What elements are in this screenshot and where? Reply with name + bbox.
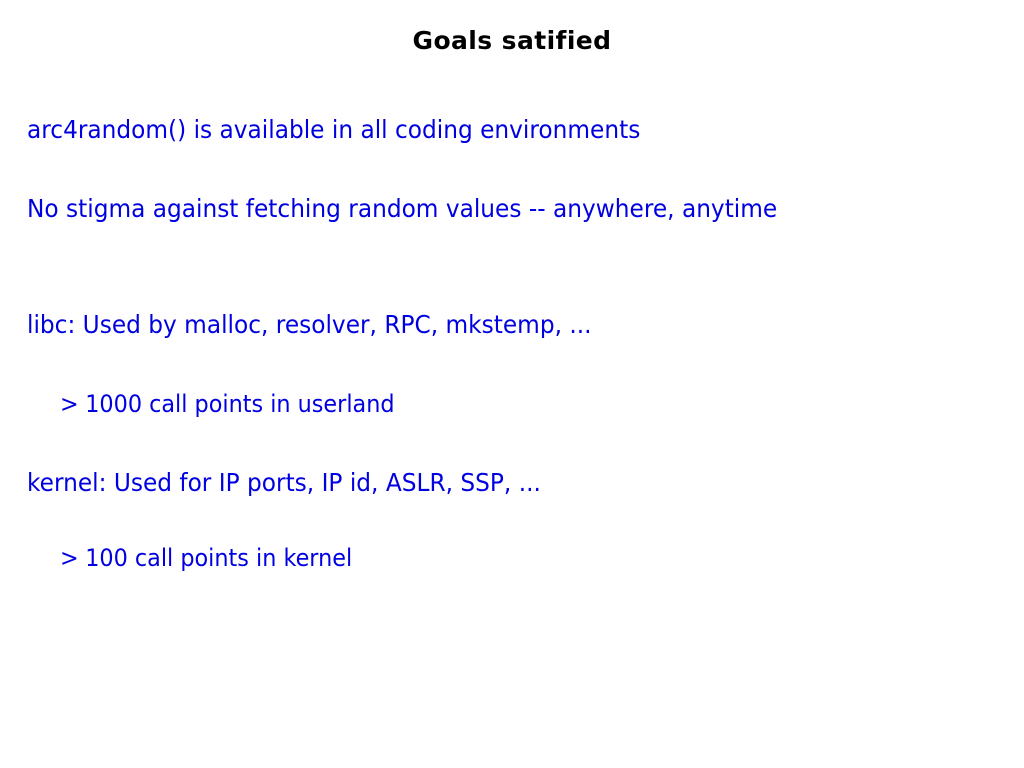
bullet-line-libc: libc: Used by malloc, resolver, RPC, mks… — [27, 310, 592, 340]
sub-bullet-text: 1000 call points in userland — [85, 390, 394, 418]
bullet-text: arc4random() is available in all coding … — [27, 115, 640, 144]
sub-bullet-line-userland-callpoints: >1000 call points in userland — [60, 389, 395, 419]
bullet-line-arc4random: arc4random() is available in all coding … — [27, 115, 640, 145]
greater-than-bullet-icon: > — [60, 543, 79, 573]
bullet-text: No stigma against fetching random values… — [27, 194, 777, 223]
presentation-slide: Goals satified arc4random() is available… — [0, 0, 1024, 768]
bullet-line-kernel: kernel: Used for IP ports, IP id, ASLR, … — [27, 468, 541, 498]
sub-bullet-text: 100 call points in kernel — [85, 544, 352, 572]
bullet-line-no-stigma: No stigma against fetching random values… — [27, 194, 777, 224]
slide-title: Goals satified — [0, 26, 1024, 56]
sub-bullet-line-kernel-callpoints: >100 call points in kernel — [60, 543, 352, 573]
greater-than-bullet-icon: > — [60, 389, 79, 419]
bullet-text: kernel: Used for IP ports, IP id, ASLR, … — [27, 468, 541, 497]
bullet-text: libc: Used by malloc, resolver, RPC, mks… — [27, 310, 592, 339]
